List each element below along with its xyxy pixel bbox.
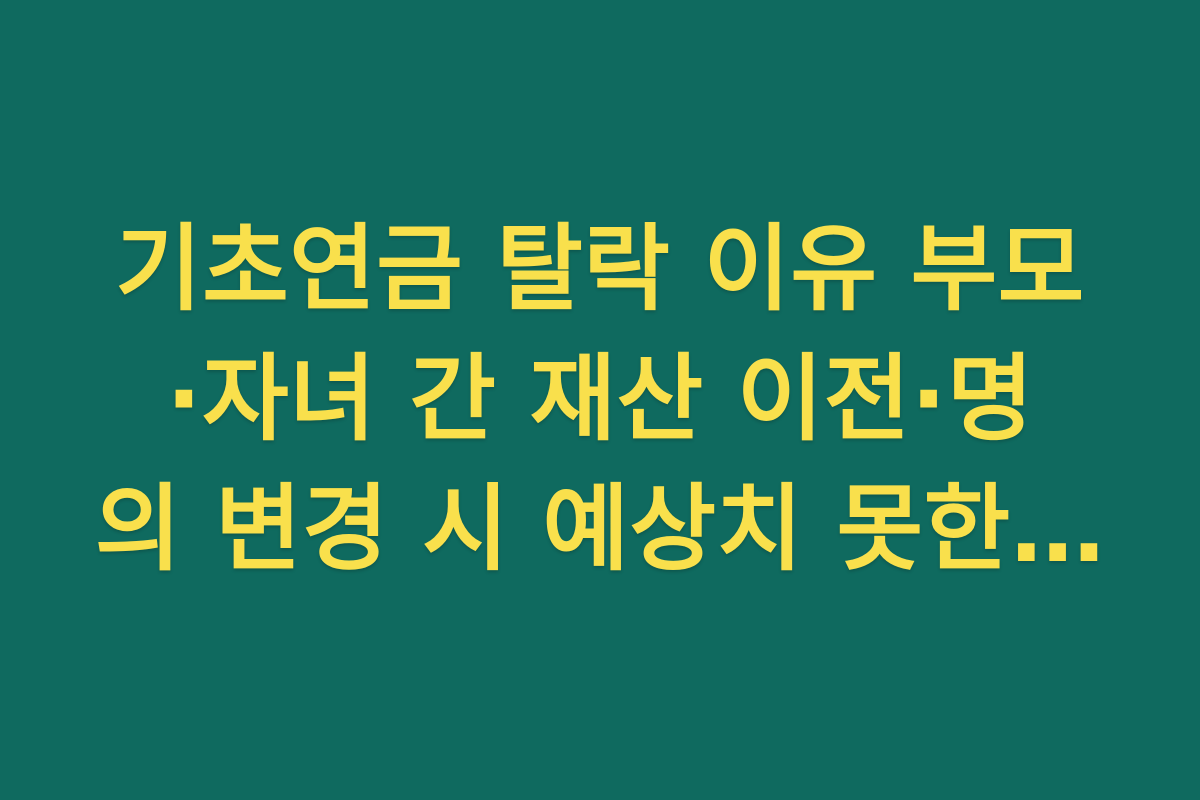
- headline-line-2: ·자녀 간 재산 이전·명: [90, 335, 1110, 465]
- headline-line-1: 기초연금 탈락 이유 부모: [90, 205, 1110, 335]
- headline-line-3: 의 변경 시 예상치 못한…: [90, 465, 1110, 595]
- headline-text-block: 기초연금 탈락 이유 부모 ·자녀 간 재산 이전·명 의 변경 시 예상치 못…: [80, 205, 1120, 595]
- thumbnail-card: 기초연금 탈락 이유 부모 ·자녀 간 재산 이전·명 의 변경 시 예상치 못…: [0, 0, 1200, 800]
